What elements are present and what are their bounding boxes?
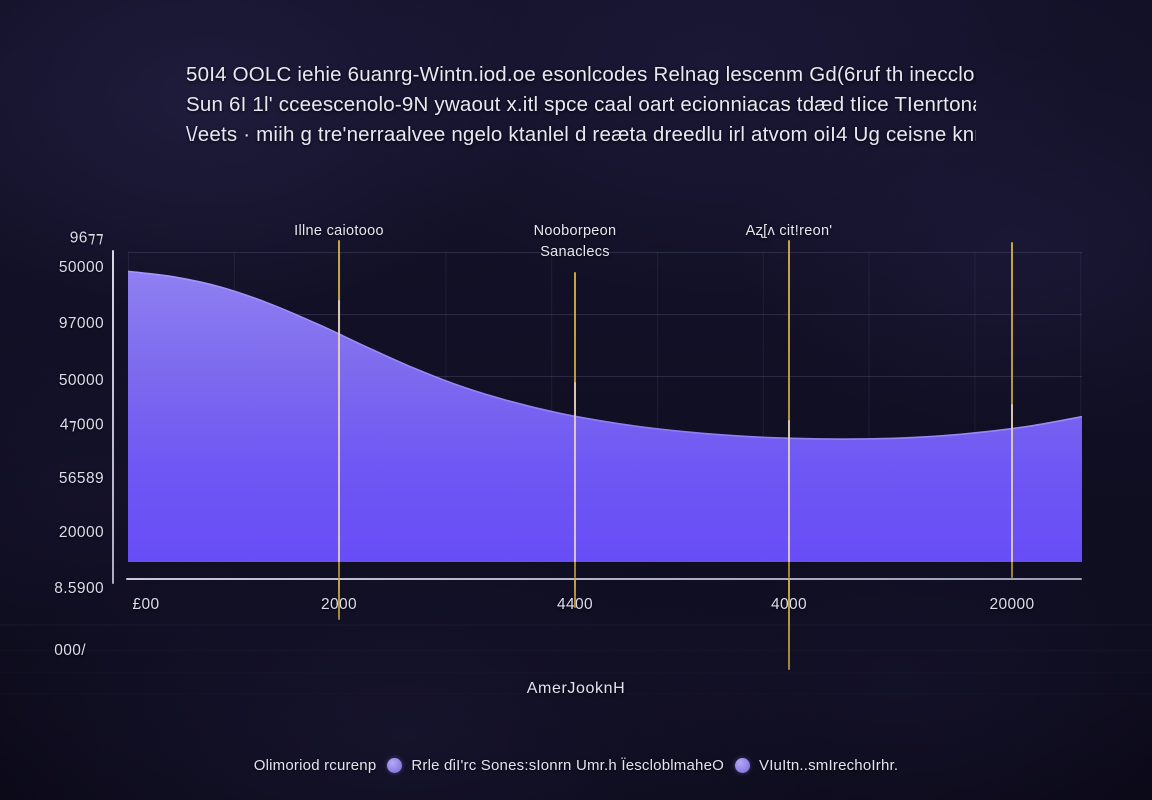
y-tick-label: 000/ [54, 642, 86, 660]
legend-item-2[interactable]: VIuItn..smIrechoIrhr. [735, 757, 898, 774]
legend-item-1[interactable]: Rrle ɗiI'rc Sones:sIonrn Umr.h Ïescloblm… [387, 757, 724, 774]
annotation-line-3-overlay [788, 420, 790, 562]
x-tick-label: £00 [132, 596, 159, 614]
y-tick-label: 20000 [59, 524, 104, 542]
y-tick-label: 50000 [59, 259, 104, 277]
y-tick-label: 56589 [59, 470, 104, 488]
annotation-label-1-line-1: Illne caiotooo [294, 221, 384, 242]
area-series [128, 252, 1082, 562]
annotation-line-2-overlay [574, 382, 576, 562]
annotation-label-2: Nooborpeon Sanaclecs [534, 221, 617, 263]
y-tick-label: 4⁊000 [60, 416, 104, 435]
annotation-label-3: Aʐ[ʌ cit!reon' [746, 221, 833, 242]
annotation-label-2-line-2: Sanaclecs [534, 242, 617, 263]
annotation-line-1-overlay [338, 300, 340, 562]
annotation-line-4-overlay [1011, 404, 1013, 562]
y-tick-label: 97000 [59, 315, 104, 333]
plot-area [128, 252, 1082, 562]
annotation-label-3-line-1: Aʐ[ʌ cit!reon' [746, 221, 833, 242]
legend-dot-icon [735, 758, 750, 773]
annotation-line-1-tail [338, 578, 340, 620]
y-tick-label: 96⁊⁊ [70, 229, 104, 248]
annotation-line-3-tail [788, 578, 790, 670]
area-chart: 96⁊⁊ 50000 97000 50000 4⁊000 56589 20000… [0, 0, 1152, 800]
annotation-line-2-tail [574, 578, 576, 608]
legend-label: Olimoriod rcurenp [254, 757, 377, 774]
chart-legend: Olimoriod rcurenp Rrle ɗiI'rc Sones:sIon… [0, 757, 1152, 774]
y-tick-label: 8.5900 [54, 580, 104, 598]
legend-item-0[interactable]: Olimoriod rcurenp [254, 757, 377, 774]
legend-label: Rrle ɗiI'rc Sones:sIonrn Umr.h Ïescloblm… [411, 757, 724, 774]
x-axis-line [126, 578, 1082, 580]
legend-label: VIuItn..smIrechoIrhr. [759, 757, 898, 774]
annotation-label-2-line-1: Nooborpeon [534, 221, 617, 242]
x-axis-title: AmerJooknH [0, 680, 1152, 698]
legend-dot-icon [387, 758, 402, 773]
x-tick-label: 20000 [989, 596, 1034, 614]
y-tick-label: 50000 [59, 372, 104, 390]
y-axis-line [112, 250, 114, 584]
annotation-label-1: Illne caiotooo [294, 221, 384, 242]
